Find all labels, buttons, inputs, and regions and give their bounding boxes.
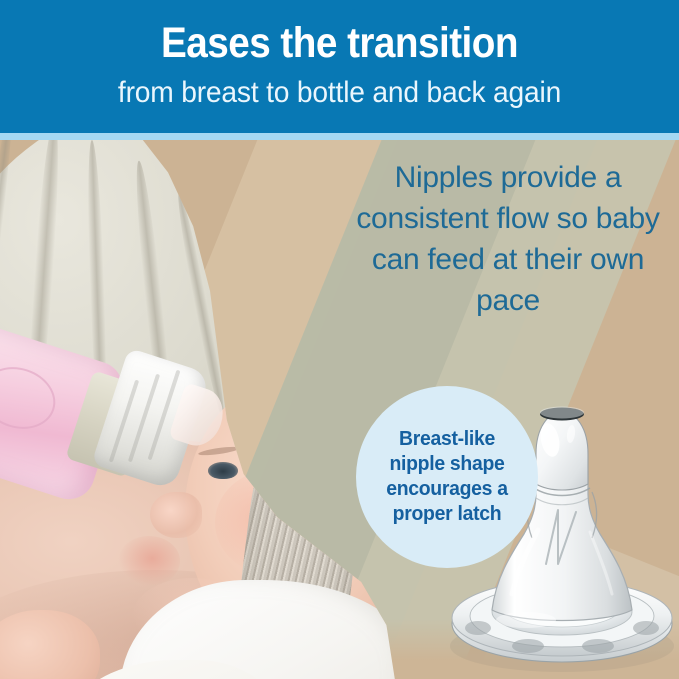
headline: Eases the transition [34, 22, 645, 65]
baby-nose [150, 492, 202, 538]
baby-eye-left [208, 462, 238, 479]
nipple-dome [536, 412, 588, 490]
baby-mouth [118, 536, 180, 586]
callout-badge: Breast-like nipple shape encourages a pr… [356, 386, 538, 568]
subheadline: from breast to bottle and back again [20, 78, 658, 108]
base-highlight [496, 612, 556, 628]
benefit-copy: Nipples provide a consistent flow so bab… [352, 157, 664, 321]
header-banner: Eases the transition from breast to bott… [0, 0, 679, 133]
callout-text: Breast-like nipple shape encourages a pr… [359, 427, 536, 527]
banner-accent-strip [0, 133, 679, 140]
product-marketing-image: Eases the transition from breast to bott… [0, 0, 679, 679]
nipple-tip-rim [540, 407, 584, 419]
